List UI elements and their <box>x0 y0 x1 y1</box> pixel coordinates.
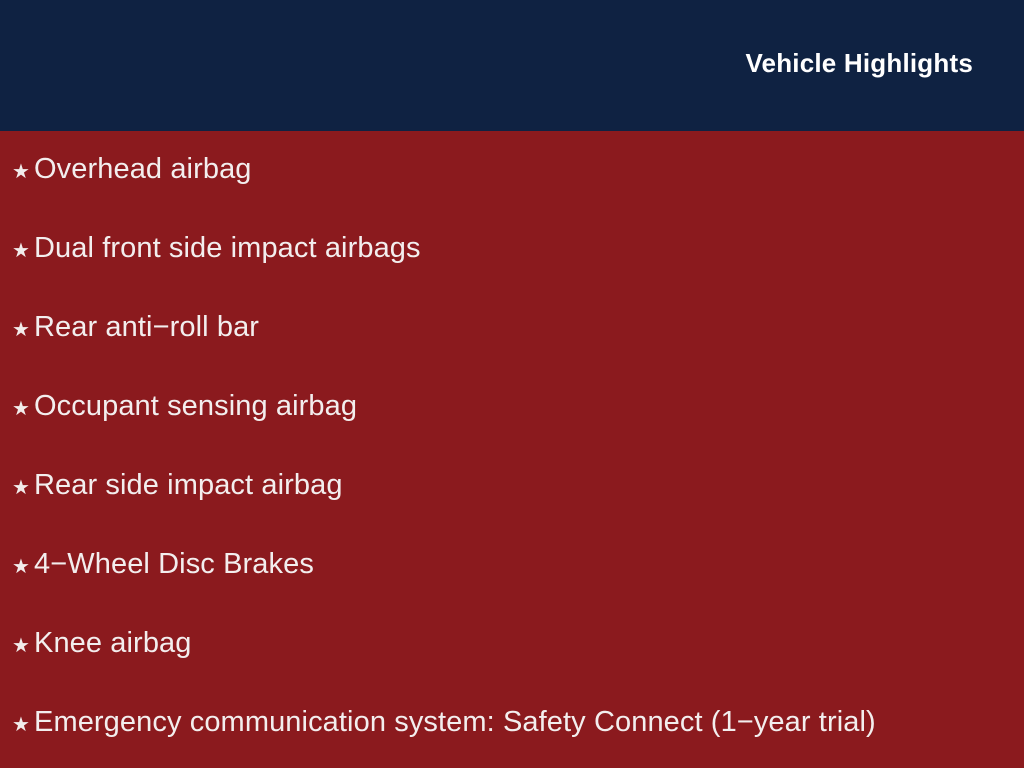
list-item: ★ Rear anti−roll bar <box>12 313 259 342</box>
star-bullet-icon: ★ <box>12 636 34 656</box>
list-item-label: Overhead airbag <box>34 155 252 184</box>
list-item: ★ Knee airbag <box>12 629 192 658</box>
list-item: ★ Overhead airbag <box>12 155 252 184</box>
list-item: ★ Dual front side impact airbags <box>12 234 421 263</box>
star-bullet-icon: ★ <box>12 478 34 498</box>
star-bullet-icon: ★ <box>12 557 34 577</box>
page-title: Vehicle Highlights <box>745 48 973 79</box>
list-item-label: Emergency communication system: Safety C… <box>34 708 876 737</box>
highlights-body: ★ Overhead airbag ★ Dual front side impa… <box>0 131 1024 768</box>
list-item-label: 4−Wheel Disc Brakes <box>34 550 314 579</box>
list-item-label: Knee airbag <box>34 629 192 658</box>
star-bullet-icon: ★ <box>12 715 34 735</box>
list-item-label: Occupant sensing airbag <box>34 392 357 421</box>
list-item: ★ 4−Wheel Disc Brakes <box>12 550 314 579</box>
header-band: Vehicle Highlights <box>0 0 1024 131</box>
star-bullet-icon: ★ <box>12 399 34 419</box>
star-bullet-icon: ★ <box>12 241 34 261</box>
list-item: ★ Occupant sensing airbag <box>12 392 357 421</box>
star-bullet-icon: ★ <box>12 162 34 182</box>
list-item: ★ Rear side impact airbag <box>12 471 343 500</box>
list-item-label: Rear side impact airbag <box>34 471 343 500</box>
star-bullet-icon: ★ <box>12 320 34 340</box>
list-item: ★ Emergency communication system: Safety… <box>12 708 876 737</box>
vehicle-highlights-slide: Vehicle Highlights ★ Overhead airbag ★ D… <box>0 0 1024 768</box>
list-item-label: Dual front side impact airbags <box>34 234 421 263</box>
list-item-label: Rear anti−roll bar <box>34 313 259 342</box>
